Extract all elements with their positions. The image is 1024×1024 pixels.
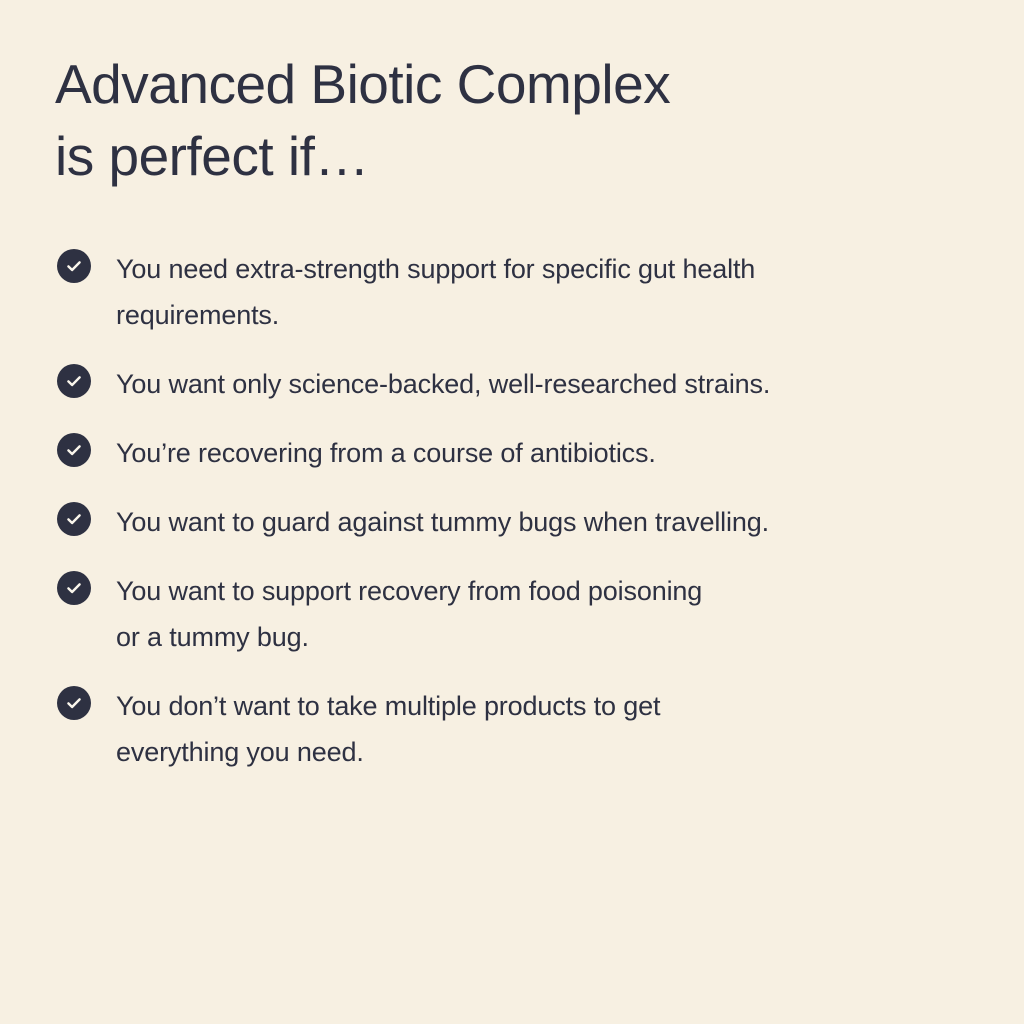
list-item: You’re recovering from a course of antib… <box>57 430 977 476</box>
marketing-card: Advanced Biotic Complex is perfect if… Y… <box>0 0 1024 1024</box>
check-circle-icon <box>57 686 91 720</box>
list-item-line-1: You want only science-backed, well-resea… <box>116 361 961 407</box>
list-item-line-2: requirements. <box>116 292 961 338</box>
list-item-line-1: You want to support recovery from food p… <box>116 568 961 614</box>
page-title-line-2: is perfect if… <box>55 120 955 192</box>
list-item: You want only science-backed, well-resea… <box>57 361 977 407</box>
list-item-line-1: You need extra-strength support for spec… <box>116 246 961 292</box>
list-item-line-1: You want to guard against tummy bugs whe… <box>116 499 961 545</box>
list-item: You want to guard against tummy bugs whe… <box>57 499 977 545</box>
list-item-line-1: You’re recovering from a course of antib… <box>116 430 961 476</box>
check-circle-icon <box>57 502 91 536</box>
list-item-text: You want to guard against tummy bugs whe… <box>116 499 961 545</box>
list-item-text: You want only science-backed, well-resea… <box>116 361 961 407</box>
benefit-list: You need extra-strength support for spec… <box>57 246 977 775</box>
page-title: Advanced Biotic Complex is perfect if… <box>55 48 955 192</box>
list-item: You don’t want to take multiple products… <box>57 683 977 775</box>
list-item-line-1: You don’t want to take multiple products… <box>116 683 961 729</box>
page-title-line-1: Advanced Biotic Complex <box>55 48 955 120</box>
list-item-text: You need extra-strength support for spec… <box>116 246 961 338</box>
list-item-line-2: or a tummy bug. <box>116 614 961 660</box>
check-circle-icon <box>57 364 91 398</box>
list-item-text: You want to support recovery from food p… <box>116 568 961 660</box>
check-circle-icon <box>57 571 91 605</box>
list-item: You want to support recovery from food p… <box>57 568 977 660</box>
list-item-text: You’re recovering from a course of antib… <box>116 430 961 476</box>
check-circle-icon <box>57 433 91 467</box>
list-item-text: You don’t want to take multiple products… <box>116 683 961 775</box>
list-item-line-2: everything you need. <box>116 729 961 775</box>
check-circle-icon <box>57 249 91 283</box>
list-item: You need extra-strength support for spec… <box>57 246 977 338</box>
